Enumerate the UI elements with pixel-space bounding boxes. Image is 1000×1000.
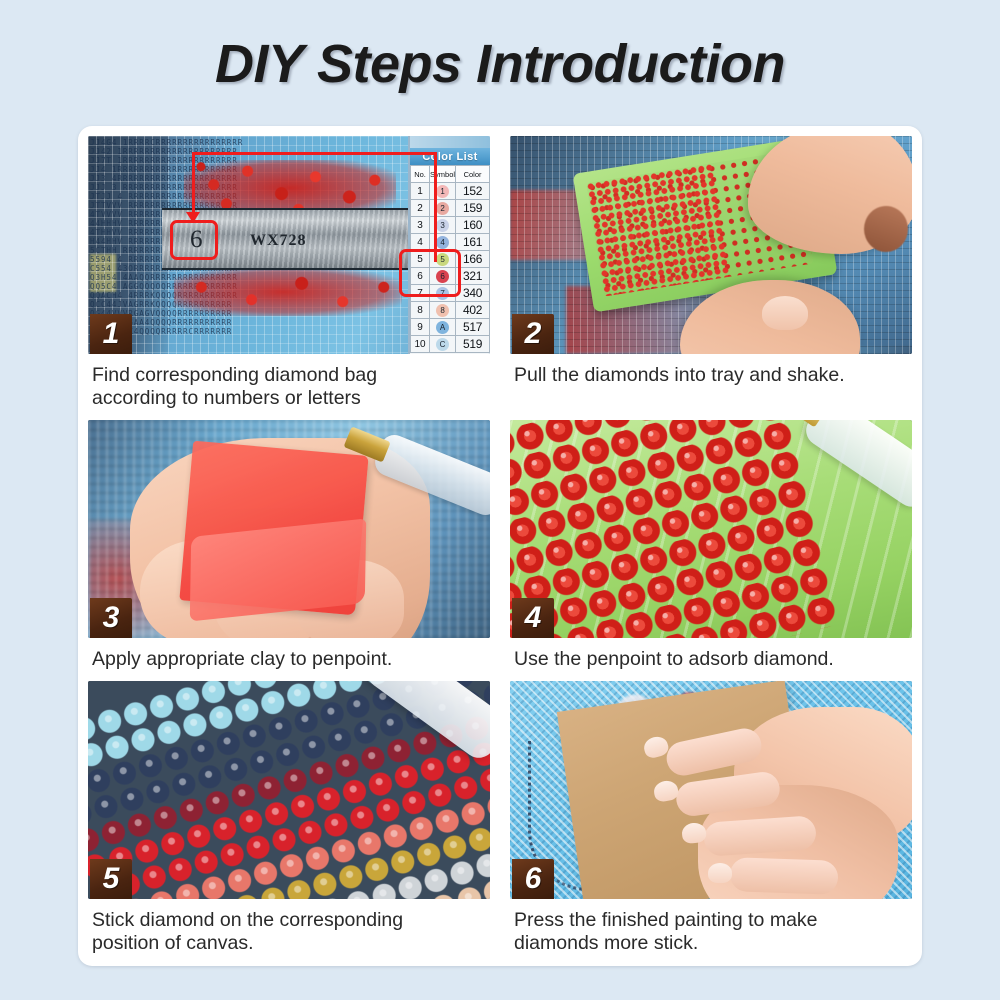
color-list-cell-color: 519	[456, 336, 490, 353]
thumbnail	[762, 296, 808, 330]
step-badge-4: 4	[512, 598, 554, 638]
color-list-cell-color: 161	[456, 234, 490, 251]
step-caption-5: Stick diamond on the corresponding posit…	[88, 899, 490, 961]
color-list-header-row: No. Symbol Color	[411, 166, 490, 183]
color-swatch-icon: 4	[436, 236, 449, 249]
step-badge-5: 5	[90, 859, 132, 899]
color-list-cell-no: 9	[411, 319, 430, 336]
color-list-cell-no: 4	[411, 234, 430, 251]
step-6-photo: Book 6	[510, 681, 912, 899]
color-list-cell-no: 3	[411, 217, 430, 234]
color-list-cell-color: 517	[456, 319, 490, 336]
color-list-cell-no: 2	[411, 200, 430, 217]
tray-diamonds-dense	[586, 163, 730, 296]
col-header-no: No.	[411, 166, 430, 183]
fingernail-4	[708, 863, 732, 883]
page-title: DIY Steps Introduction	[215, 33, 785, 95]
color-list-row: 9A517	[411, 319, 490, 336]
step-1-photo: JJ4G4 1RRRRCRRRRRRRRRRRRRRRR JJ42 1RRRRR…	[88, 136, 490, 354]
step-cell-1: JJ4G4 1RRRRCRRRRRRRRRRRRRRRR JJ42 1RRRRR…	[84, 132, 494, 416]
diamond-bag-code: WX728	[250, 232, 307, 250]
color-list-row: 44161	[411, 234, 490, 251]
color-swatch-icon: A	[436, 321, 449, 334]
color-list-cell-symbol: C	[430, 336, 456, 353]
step-cell-5: 5 Stick diamond on the corresponding pos…	[84, 677, 494, 961]
highlight-box-bag-number	[170, 220, 218, 260]
color-list-row: 33160	[411, 217, 490, 234]
color-swatch-icon: 1	[436, 185, 449, 198]
step-5-photo: 5	[88, 681, 490, 899]
color-list-row: 11152	[411, 183, 490, 200]
annotation-line-horizontal	[194, 152, 437, 155]
color-list-cell-symbol: A	[430, 319, 456, 336]
title-bar: DIY Steps Introduction	[0, 0, 1000, 128]
step-3-photo: 3	[88, 420, 490, 638]
color-list-row: 88402	[411, 302, 490, 319]
color-list-cell-color: 402	[456, 302, 490, 319]
step-caption-2: Pull the diamonds into tray and shake.	[510, 354, 912, 393]
step-badge-3: 3	[90, 598, 132, 638]
color-swatch-icon: C	[436, 338, 449, 351]
color-list-cell-no: 1	[411, 183, 430, 200]
col-header-color: Color	[456, 166, 490, 183]
color-swatch-icon: 8	[436, 304, 449, 317]
annotation-line-vertical-left	[192, 152, 195, 218]
color-list-cell-no: 8	[411, 302, 430, 319]
hand-knuckle-shadow	[864, 206, 908, 252]
highlight-box-color-rows	[399, 249, 461, 297]
color-swatch-icon: 2	[436, 202, 449, 215]
color-list-cell-symbol: 8	[430, 302, 456, 319]
red-diamond-highlights	[510, 420, 840, 638]
color-list-cell-color: 160	[456, 217, 490, 234]
step-badge-6: 6	[512, 859, 554, 899]
annotation-line-vertical-right	[434, 152, 437, 262]
annotation-arrow-icon	[186, 212, 200, 223]
color-list-panel: Color List No. Symbol Color 111522215933…	[408, 136, 490, 354]
step-2-photo: 2	[510, 136, 912, 354]
color-list-row: 22159	[411, 200, 490, 217]
color-list-title: Color List	[410, 148, 490, 165]
color-swatch-icon: 3	[436, 219, 449, 232]
finger-4	[729, 857, 838, 895]
step-caption-1: Find corresponding diamond bag according…	[88, 354, 490, 416]
color-list-cell-color: 152	[456, 183, 490, 200]
color-list-cell-no: 10	[411, 336, 430, 353]
color-list-row: 10C519	[411, 336, 490, 353]
steps-card: JJ4G4 1RRRRCRRRRRRRRRRRRRRRR JJ42 1RRRRR…	[78, 126, 922, 966]
color-list-top-strip	[410, 136, 490, 148]
step-caption-6: Press the finished painting to make diam…	[510, 899, 912, 961]
red-diamonds-lower	[174, 268, 402, 316]
step-cell-3: 3 Apply appropriate clay to penpoint.	[84, 416, 494, 677]
step-caption-4: Use the penpoint to adsorb diamond.	[510, 638, 912, 677]
step-4-photo: 4	[510, 420, 912, 638]
step-caption-3: Apply appropriate clay to penpoint.	[88, 638, 490, 677]
step-badge-2: 2	[512, 314, 554, 354]
step-cell-2: 2 Pull the diamonds into tray and shake.	[506, 132, 916, 416]
step-cell-6: Book 6 Press the finished painting to ma…	[506, 677, 916, 961]
step-cell-4: 4 Use the penpoint to adsorb diamond.	[506, 416, 916, 677]
color-list-cell-color: 159	[456, 200, 490, 217]
step-badge-1: 1	[90, 314, 132, 354]
